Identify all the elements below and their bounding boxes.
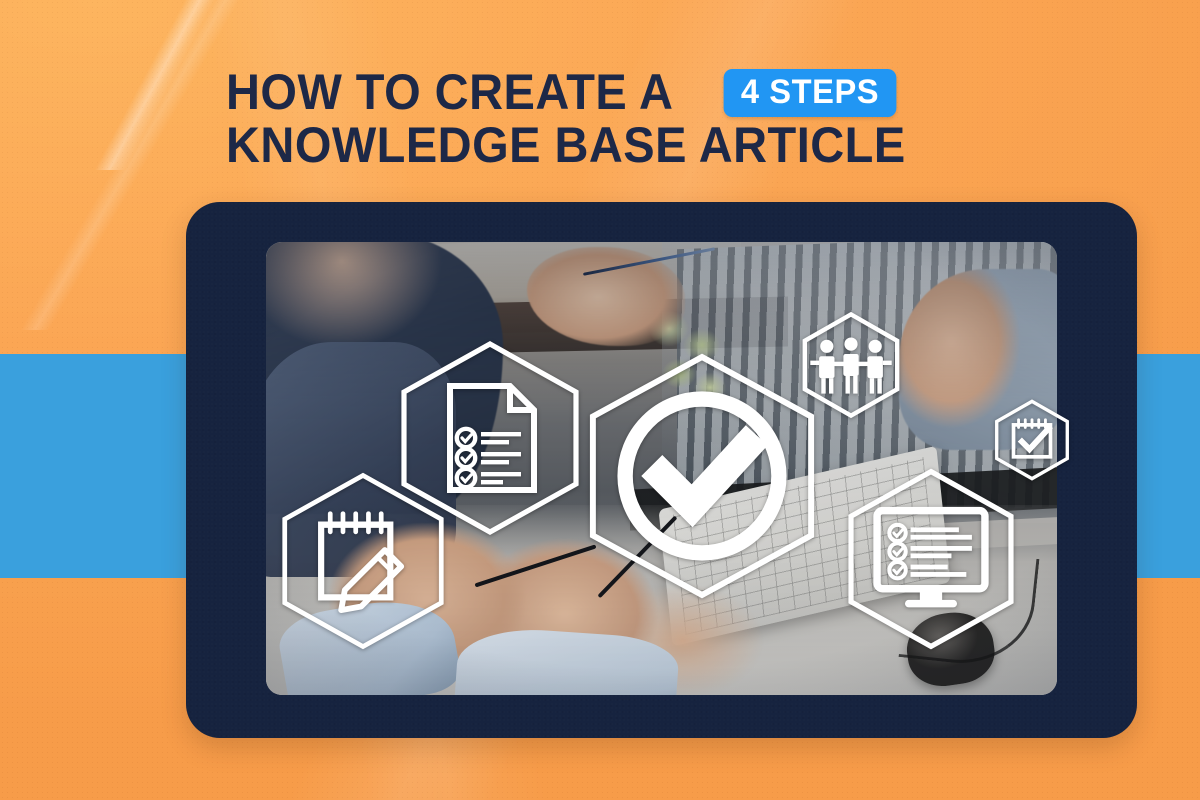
title-line-1-row: HOW TO CREATE A 4 STEPS [226,66,966,119]
calendar-check-icon [990,398,1074,482]
page-title: HOW TO CREATE A 4 STEPS KNOWLEDGE BASE A… [226,66,966,172]
title-line-1: HOW TO CREATE A [226,66,673,119]
check-circle-icon [578,352,826,600]
notepad-pencil-icon [272,470,454,652]
team-people-icon [796,310,906,420]
title-line-2: KNOWLEDGE BASE ARTICLE [226,119,922,172]
steps-badge: 4 STEPS [724,69,897,117]
monitor-checklist-icon [838,466,1024,652]
poster-canvas: HOW TO CREATE A 4 STEPS KNOWLEDGE BASE A… [0,0,1200,800]
